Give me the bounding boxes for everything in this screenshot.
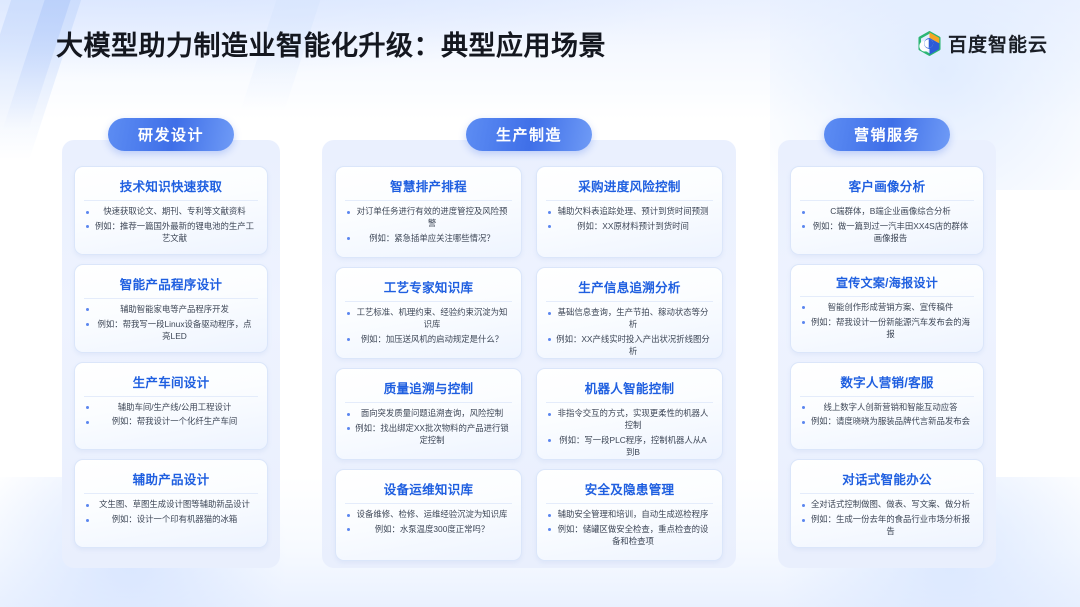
list-item: 全对话式控制做图、做表、写文案、做分析: [800, 499, 974, 511]
list-item: 例如：找出绑定XX批次物料的产品进行锁定控制: [345, 423, 512, 447]
card-bullets: 辅助智能家电等产品程序开发 例如：帮我写一段Linux设备驱动程序，点亮LED: [84, 304, 258, 343]
scenario-card[interactable]: 设备运维知识库 设备维修、检修、运维经验沉淀为知识库 例如：水泵温度300度正常…: [335, 469, 522, 561]
column-header-rd-design[interactable]: 研发设计: [108, 118, 234, 151]
list-item: 智能创作形成营销方案、宣传稿件: [800, 302, 974, 314]
column-label: 营销服务: [854, 124, 920, 145]
scenario-board: 研发设计 技术知识快速获取 快速获取论文、期刊、专利等文献资料 例如：推荐一篇国…: [0, 118, 1080, 568]
bullet-text: 线上数字人创新营销和智能互动应答: [824, 402, 958, 412]
card-bullets: 辅助安全管理和培训，自动生成巡检程序 例如：储罐区做安全检查，重点检查的设备和检…: [546, 509, 713, 548]
bullet-dot-icon: [86, 519, 89, 522]
card-title: 生产车间设计: [84, 372, 258, 397]
list-item: 例如：XX产线实时投入产出状况折线图分析: [546, 334, 713, 358]
bullet-dot-icon: [802, 406, 805, 409]
bullet-dot-icon: [347, 338, 350, 341]
column-marketing-service: 营销服务 客户画像分析 C端群体，B端企业画像综合分析 例如：做一篇到过一汽丰田…: [778, 118, 996, 568]
bullet-text: 辅助智能家电等产品程序开发: [120, 304, 229, 314]
list-item: 文生图、草图生成设计图等辅助新品设计: [84, 499, 258, 511]
bullet-text: 例如：帮我设计一个化纤生产车间: [112, 416, 238, 426]
card-list-rd-design: 技术知识快速获取 快速获取论文、期刊、专利等文献资料 例如：推荐一篇国外最新的锂…: [62, 156, 280, 558]
bullet-dot-icon: [347, 528, 350, 531]
scenario-card[interactable]: 安全及隐患管理 辅助安全管理和培训，自动生成巡检程序 例如：储罐区做安全检查，重…: [536, 469, 723, 561]
bullet-text: 例如：储罐区做安全检查，重点检查的设备和检查项: [558, 524, 709, 546]
bullet-dot-icon: [802, 211, 805, 214]
column-label: 生产制造: [496, 124, 562, 145]
page-title: 大模型助力制造业智能化升级：典型应用场景: [56, 24, 606, 63]
card-bullets: 基础信息查询，生产节拍、稼动状态等分析 例如：XX产线实时投入产出状况折线图分析: [546, 307, 713, 358]
card-list-marketing-service: 客户画像分析 C端群体，B端企业画像综合分析 例如：做一篇到过一汽丰田XX4S店…: [778, 156, 996, 558]
scenario-card[interactable]: 采购进度风险控制 辅助欠料表追踪处理、预计到货时间预测 例如：XX原材料预计到货…: [536, 166, 723, 258]
list-item: 例如：请度晓晓为服装品牌代言新品发布会: [800, 416, 974, 428]
bullet-dot-icon: [347, 514, 350, 517]
card-list-production-manufacturing: 智慧排产排程 对订单任务进行有效的进度管控及风险预警 例如：紧急插单应关注哪些情…: [322, 156, 736, 558]
bullet-dot-icon: [86, 421, 89, 424]
bullet-dot-icon: [347, 413, 350, 416]
bullet-dot-icon: [802, 421, 805, 424]
bullet-dot-icon: [548, 211, 551, 214]
bullet-text: 例如：XX产线实时投入产出状况折线图分析: [556, 334, 710, 356]
scenario-card[interactable]: 工艺专家知识库 工艺标准、机理约束、经验约束沉淀为知识库 例如：加压送风机的启动…: [335, 267, 522, 359]
card-bullets: 非指令交互的方式，实现更柔性的机器人控制 例如：写一段PLC程序，控制机器人从A…: [546, 408, 713, 459]
list-item: 线上数字人创新营销和智能互动应答: [800, 402, 974, 414]
bullet-dot-icon: [548, 439, 551, 442]
bullet-text: 例如：写一段PLC程序，控制机器人从A到B: [559, 435, 707, 457]
list-item: 例如：紧急插单应关注哪些情况？: [345, 233, 512, 245]
list-item: 设备维修、检修、运维经验沉淀为知识库: [345, 509, 512, 521]
card-bullets: 面向突发质量问题追溯查询，风险控制 例如：找出绑定XX批次物料的产品进行锁定控制: [345, 408, 512, 447]
bullet-text: C端群体，B端企业画像综合分析: [830, 206, 951, 216]
list-item: 例如：生成一份去年的食品行业市场分析报告: [800, 514, 974, 538]
bullet-text: 工艺标准、机理约束、经验约束沉淀为知识库: [357, 307, 508, 329]
list-item: 快速获取论文、期刊、专利等文献资料: [84, 206, 258, 218]
list-item: 工艺标准、机理约束、经验约束沉淀为知识库: [345, 307, 512, 331]
bullet-dot-icon: [86, 225, 89, 228]
bullet-text: 对订单任务进行有效的进度管控及风险预警: [357, 206, 508, 228]
bullet-dot-icon: [548, 528, 551, 531]
list-item: 对订单任务进行有效的进度管控及风险预警: [345, 206, 512, 230]
scenario-card[interactable]: 客户画像分析 C端群体，B端企业画像综合分析 例如：做一篇到过一汽丰田XX4S店…: [790, 166, 984, 255]
bullet-text: 文生图、草图生成设计图等辅助新品设计: [99, 499, 250, 509]
card-title: 客户画像分析: [800, 176, 974, 201]
card-bullets: 智能创作形成营销方案、宣传稿件 例如：帮我设计一份新能源汽车发布会的海报: [800, 302, 974, 341]
card-title: 智能产品程序设计: [84, 274, 258, 299]
slide-header: 大模型助力制造业智能化升级：典型应用场景 百度智能云: [0, 0, 1080, 86]
list-item: 例如：帮我设计一份新能源汽车发布会的海报: [800, 317, 974, 341]
bullet-dot-icon: [802, 225, 805, 228]
card-title: 对话式智能办公: [800, 469, 974, 494]
bullet-text: 例如：找出绑定XX批次物料的产品进行锁定控制: [355, 423, 509, 445]
list-item: 例如：帮我设计一个化纤生产车间: [84, 416, 258, 428]
bullet-text: 例如：设计一个印有机器猫的冰箱: [112, 514, 238, 524]
list-item: 例如：储罐区做安全检查，重点检查的设备和检查项: [546, 524, 713, 548]
card-title: 数字人营销/客服: [800, 372, 974, 397]
list-item: 辅助智能家电等产品程序开发: [84, 304, 258, 316]
list-item: 例如：写一段PLC程序，控制机器人从A到B: [546, 435, 713, 459]
bullet-text: 例如：紧急插单应关注哪些情况？: [369, 233, 495, 243]
card-title: 采购进度风险控制: [546, 176, 713, 201]
scenario-card[interactable]: 生产信息追溯分析 基础信息查询，生产节拍、稼动状态等分析 例如：XX产线实时投入…: [536, 267, 723, 359]
bullet-text: 例如：加压送风机的启动规定是什么？: [361, 334, 503, 344]
scenario-card[interactable]: 宣传文案/海报设计 智能创作形成营销方案、宣传稿件 例如：帮我设计一份新能源汽车…: [790, 264, 984, 353]
column-header-production-manufacturing[interactable]: 生产制造: [466, 118, 592, 151]
scenario-card[interactable]: 辅助产品设计 文生图、草图生成设计图等辅助新品设计 例如：设计一个印有机器猫的冰…: [74, 459, 268, 548]
card-title: 质量追溯与控制: [345, 378, 512, 403]
card-title: 机器人智能控制: [546, 378, 713, 403]
bullet-dot-icon: [802, 519, 805, 522]
card-title: 技术知识快速获取: [84, 176, 258, 201]
bullet-dot-icon: [86, 406, 89, 409]
scenario-card[interactable]: 技术知识快速获取 快速获取论文、期刊、专利等文献资料 例如：推荐一篇国外最新的锂…: [74, 166, 268, 255]
card-title: 宣传文案/海报设计: [800, 274, 974, 297]
column-header-marketing-service[interactable]: 营销服务: [824, 118, 950, 151]
card-bullets: 对订单任务进行有效的进度管控及风险预警 例如：紧急插单应关注哪些情况？: [345, 206, 512, 245]
list-item: 面向突发质量问题追溯查询，风险控制: [345, 408, 512, 420]
list-item: 辅助欠料表追踪处理、预计到货时间预测: [546, 206, 713, 218]
bullet-text: 全对话式控制做图、做表、写文案、做分析: [811, 499, 970, 509]
bullet-text: 例如：生成一份去年的食品行业市场分析报告: [811, 514, 970, 536]
card-bullets: 文生图、草图生成设计图等辅助新品设计 例如：设计一个印有机器猫的冰箱: [84, 499, 258, 526]
bullet-dot-icon: [347, 237, 350, 240]
card-bullets: 辅助欠料表追踪处理、预计到货时间预测 例如：XX原材料预计到货时间: [546, 206, 713, 233]
bullet-text: 例如：帮我写一段Linux设备驱动程序，点亮LED: [97, 319, 251, 341]
list-item: 例如：推荐一篇国外最新的锂电池的生产工艺文献: [84, 221, 258, 245]
card-bullets: 工艺标准、机理约束、经验约束沉淀为知识库 例如：加压送风机的启动规定是什么？: [345, 307, 512, 346]
column-rd-design: 研发设计 技术知识快速获取 快速获取论文、期刊、专利等文献资料 例如：推荐一篇国…: [62, 118, 280, 568]
baidu-cloud-logo-icon: [918, 31, 941, 56]
column-label: 研发设计: [138, 124, 204, 145]
bullet-text: 例如：XX原材料预计到货时间: [577, 221, 689, 231]
bullet-text: 辅助车间/生产线/公用工程设计: [118, 402, 232, 412]
brand-name: 百度智能云: [948, 30, 1048, 57]
card-bullets: 设备维修、检修、运维经验沉淀为知识库 例如：水泵温度300度正常吗？: [345, 509, 512, 536]
bullet-dot-icon: [347, 427, 350, 430]
list-item: 例如：水泵温度300度正常吗？: [345, 524, 512, 536]
list-item: 例如：XX原材料预计到货时间: [546, 221, 713, 233]
bullet-dot-icon: [548, 338, 551, 341]
list-item: 例如：帮我写一段Linux设备驱动程序，点亮LED: [84, 319, 258, 343]
bullet-text: 基础信息查询，生产节拍、稼动状态等分析: [558, 307, 709, 329]
scenario-card[interactable]: 生产车间设计 辅助车间/生产线/公用工程设计 例如：帮我设计一个化纤生产车间: [74, 362, 268, 451]
list-item: 辅助车间/生产线/公用工程设计: [84, 402, 258, 414]
bullet-dot-icon: [802, 321, 805, 324]
bullet-text: 例如：帮我设计一份新能源汽车发布会的海报: [811, 317, 970, 339]
list-item: 例如：加压送风机的启动规定是什么？: [345, 334, 512, 346]
list-item: 非指令交互的方式，实现更柔性的机器人控制: [546, 408, 713, 432]
bullet-dot-icon: [86, 323, 89, 326]
bullet-dot-icon: [548, 413, 551, 416]
card-bullets: 全对话式控制做图、做表、写文案、做分析 例如：生成一份去年的食品行业市场分析报告: [800, 499, 974, 538]
scenario-card[interactable]: 数字人营销/客服 线上数字人创新营销和智能互动应答 例如：请度晓晓为服装品牌代言…: [790, 362, 984, 451]
card-bullets: 线上数字人创新营销和智能互动应答 例如：请度晓晓为服装品牌代言新品发布会: [800, 402, 974, 429]
bullet-dot-icon: [86, 308, 89, 311]
card-title: 生产信息追溯分析: [546, 277, 713, 302]
scenario-card[interactable]: 对话式智能办公 全对话式控制做图、做表、写文案、做分析 例如：生成一份去年的食品…: [790, 459, 984, 548]
card-title: 设备运维知识库: [345, 479, 512, 504]
bullet-dot-icon: [548, 225, 551, 228]
bullet-dot-icon: [548, 312, 551, 315]
list-item: 例如：设计一个印有机器猫的冰箱: [84, 514, 258, 526]
bullet-dot-icon: [347, 312, 350, 315]
list-item: 基础信息查询，生产节拍、稼动状态等分析: [546, 307, 713, 331]
list-item: 例如：做一篇到过一汽丰田XX4S店的群体画像报告: [800, 221, 974, 245]
bullet-dot-icon: [802, 504, 805, 507]
card-title: 工艺专家知识库: [345, 277, 512, 302]
bullet-text: 面向突发质量问题追溯查询，风险控制: [361, 408, 503, 418]
bullet-dot-icon: [802, 306, 805, 309]
scenario-card[interactable]: 机器人智能控制 非指令交互的方式，实现更柔性的机器人控制 例如：写一段PLC程序…: [536, 368, 723, 460]
scenario-card[interactable]: 智能产品程序设计 辅助智能家电等产品程序开发 例如：帮我写一段Linux设备驱动…: [74, 264, 268, 353]
card-title: 智慧排产排程: [345, 176, 512, 201]
card-title: 辅助产品设计: [84, 469, 258, 494]
bullet-text: 非指令交互的方式，实现更柔性的机器人控制: [558, 408, 709, 430]
card-bullets: 辅助车间/生产线/公用工程设计 例如：帮我设计一个化纤生产车间: [84, 402, 258, 429]
bullet-text: 辅助欠料表追踪处理、预计到货时间预测: [558, 206, 709, 216]
column-production-manufacturing: 生产制造 智慧排产排程 对订单任务进行有效的进度管控及风险预警 例如：紧急插单应…: [322, 118, 736, 568]
card-bullets: 快速获取论文、期刊、专利等文献资料 例如：推荐一篇国外最新的锂电池的生产工艺文献: [84, 206, 258, 245]
bullet-text: 快速获取论文、期刊、专利等文献资料: [103, 206, 245, 216]
card-title: 安全及隐患管理: [546, 479, 713, 504]
bullet-text: 设备维修、检修、运维经验沉淀为知识库: [357, 509, 508, 519]
bullet-text: 智能创作形成营销方案、宣传稿件: [828, 302, 954, 312]
bullet-dot-icon: [347, 211, 350, 214]
scenario-card[interactable]: 智慧排产排程 对订单任务进行有效的进度管控及风险预警 例如：紧急插单应关注哪些情…: [335, 166, 522, 258]
bullet-text: 例如：做一篇到过一汽丰田XX4S店的群体画像报告: [813, 221, 968, 243]
bullet-text: 例如：推荐一篇国外最新的锂电池的生产工艺文献: [95, 221, 254, 243]
bullet-text: 例如：请度晓晓为服装品牌代言新品发布会: [811, 416, 970, 426]
scenario-card[interactable]: 质量追溯与控制 面向突发质量问题追溯查询，风险控制 例如：找出绑定XX批次物料的…: [335, 368, 522, 460]
bullet-text: 例如：水泵温度300度正常吗？: [375, 524, 489, 534]
bullet-dot-icon: [548, 514, 551, 517]
bullet-dot-icon: [86, 211, 89, 214]
bullet-text: 辅助安全管理和培训，自动生成巡检程序: [558, 509, 709, 519]
brand-lockup: 百度智能云: [918, 30, 1048, 57]
list-item: C端群体，B端企业画像综合分析: [800, 206, 974, 218]
card-bullets: C端群体，B端企业画像综合分析 例如：做一篇到过一汽丰田XX4S店的群体画像报告: [800, 206, 974, 245]
bullet-dot-icon: [86, 504, 89, 507]
list-item: 辅助安全管理和培训，自动生成巡检程序: [546, 509, 713, 521]
